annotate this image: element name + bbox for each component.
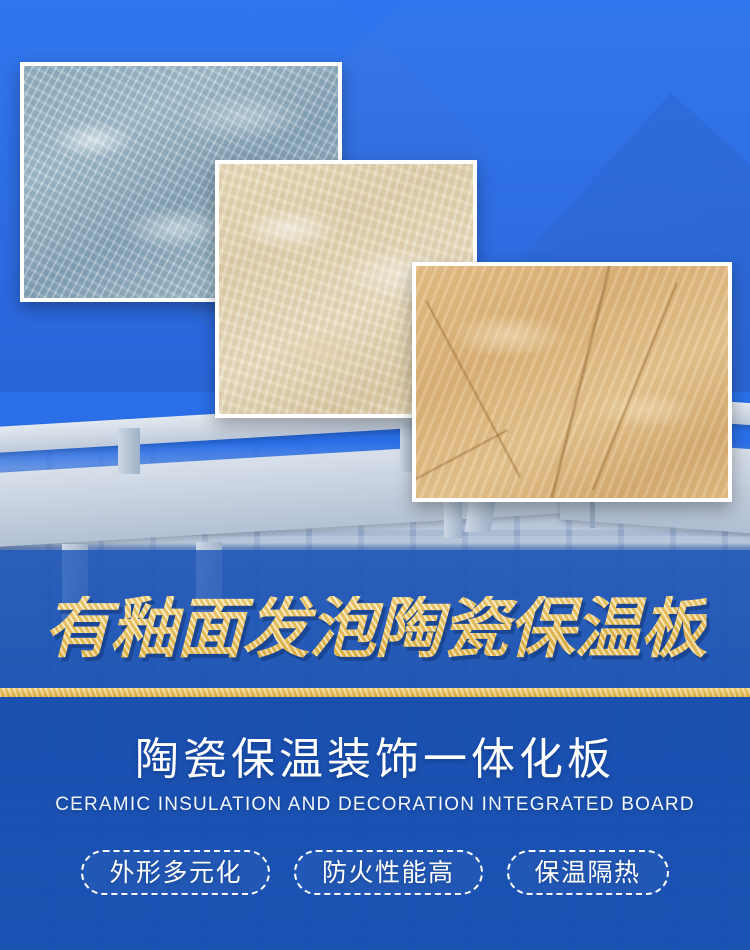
product-headline: 有釉面发泡陶瓷保温板 [44,596,707,662]
product-banner: 有釉面发泡陶瓷保温板 陶瓷保温装饰一体化板 CERAMIC INSULATION… [0,0,750,950]
tile-texture-golden [416,266,728,498]
sample-tile-golden-marble[interactable] [412,262,732,502]
subtitle-chinese: 陶瓷保温装饰一体化板 [0,738,750,782]
feature-badge-shape-diversity[interactable]: 外形多元化 [81,850,270,895]
feature-badge-list: 外形多元化 防火性能高 保温隔热 [0,850,750,895]
gold-divider-bar [0,688,750,697]
subtitle-english: CERAMIC INSULATION AND DECORATION INTEGR… [0,795,750,814]
feature-badge-thermal-insulation[interactable]: 保温隔热 [507,850,669,895]
headline-container: 有釉面发泡陶瓷保温板 [0,583,750,675]
feature-badge-fire-resistance[interactable]: 防火性能高 [294,850,483,895]
column-1 [118,428,140,474]
lower-blue-wash [0,692,750,950]
